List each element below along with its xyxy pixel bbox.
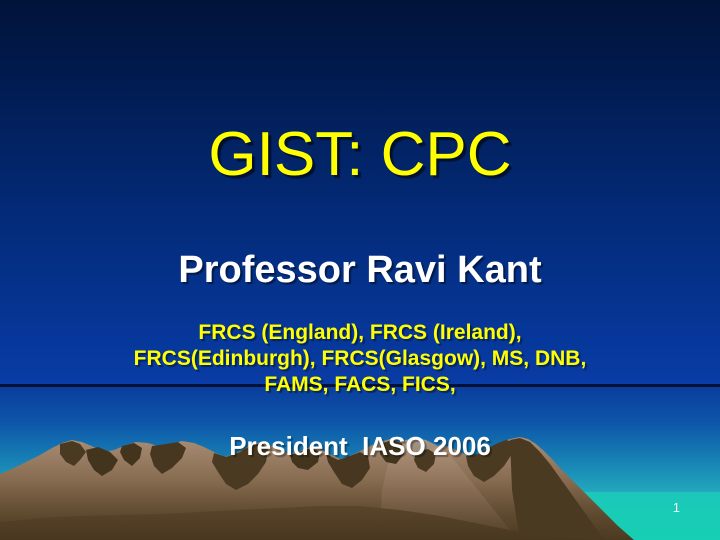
presentation-slide: GIST: CPC Professor Ravi Kant FRCS (Engl…: [0, 0, 720, 540]
credentials-line-1: FRCS (England), FRCS (Ireland),: [0, 320, 720, 346]
slide-number: 1: [673, 500, 680, 516]
slide-title: GIST: CPC: [0, 118, 720, 192]
credentials-line-3: FAMS, FACS, FICS,: [0, 372, 720, 398]
credentials-line-2: FRCS(Edinburgh), FRCS(Glasgow), MS, DNB,: [0, 346, 720, 372]
role-title: President IASO 2006: [0, 430, 720, 462]
presenter-name: Professor Ravi Kant: [0, 247, 720, 293]
credentials-block: FRCS (England), FRCS (Ireland), FRCS(Edi…: [0, 320, 720, 398]
